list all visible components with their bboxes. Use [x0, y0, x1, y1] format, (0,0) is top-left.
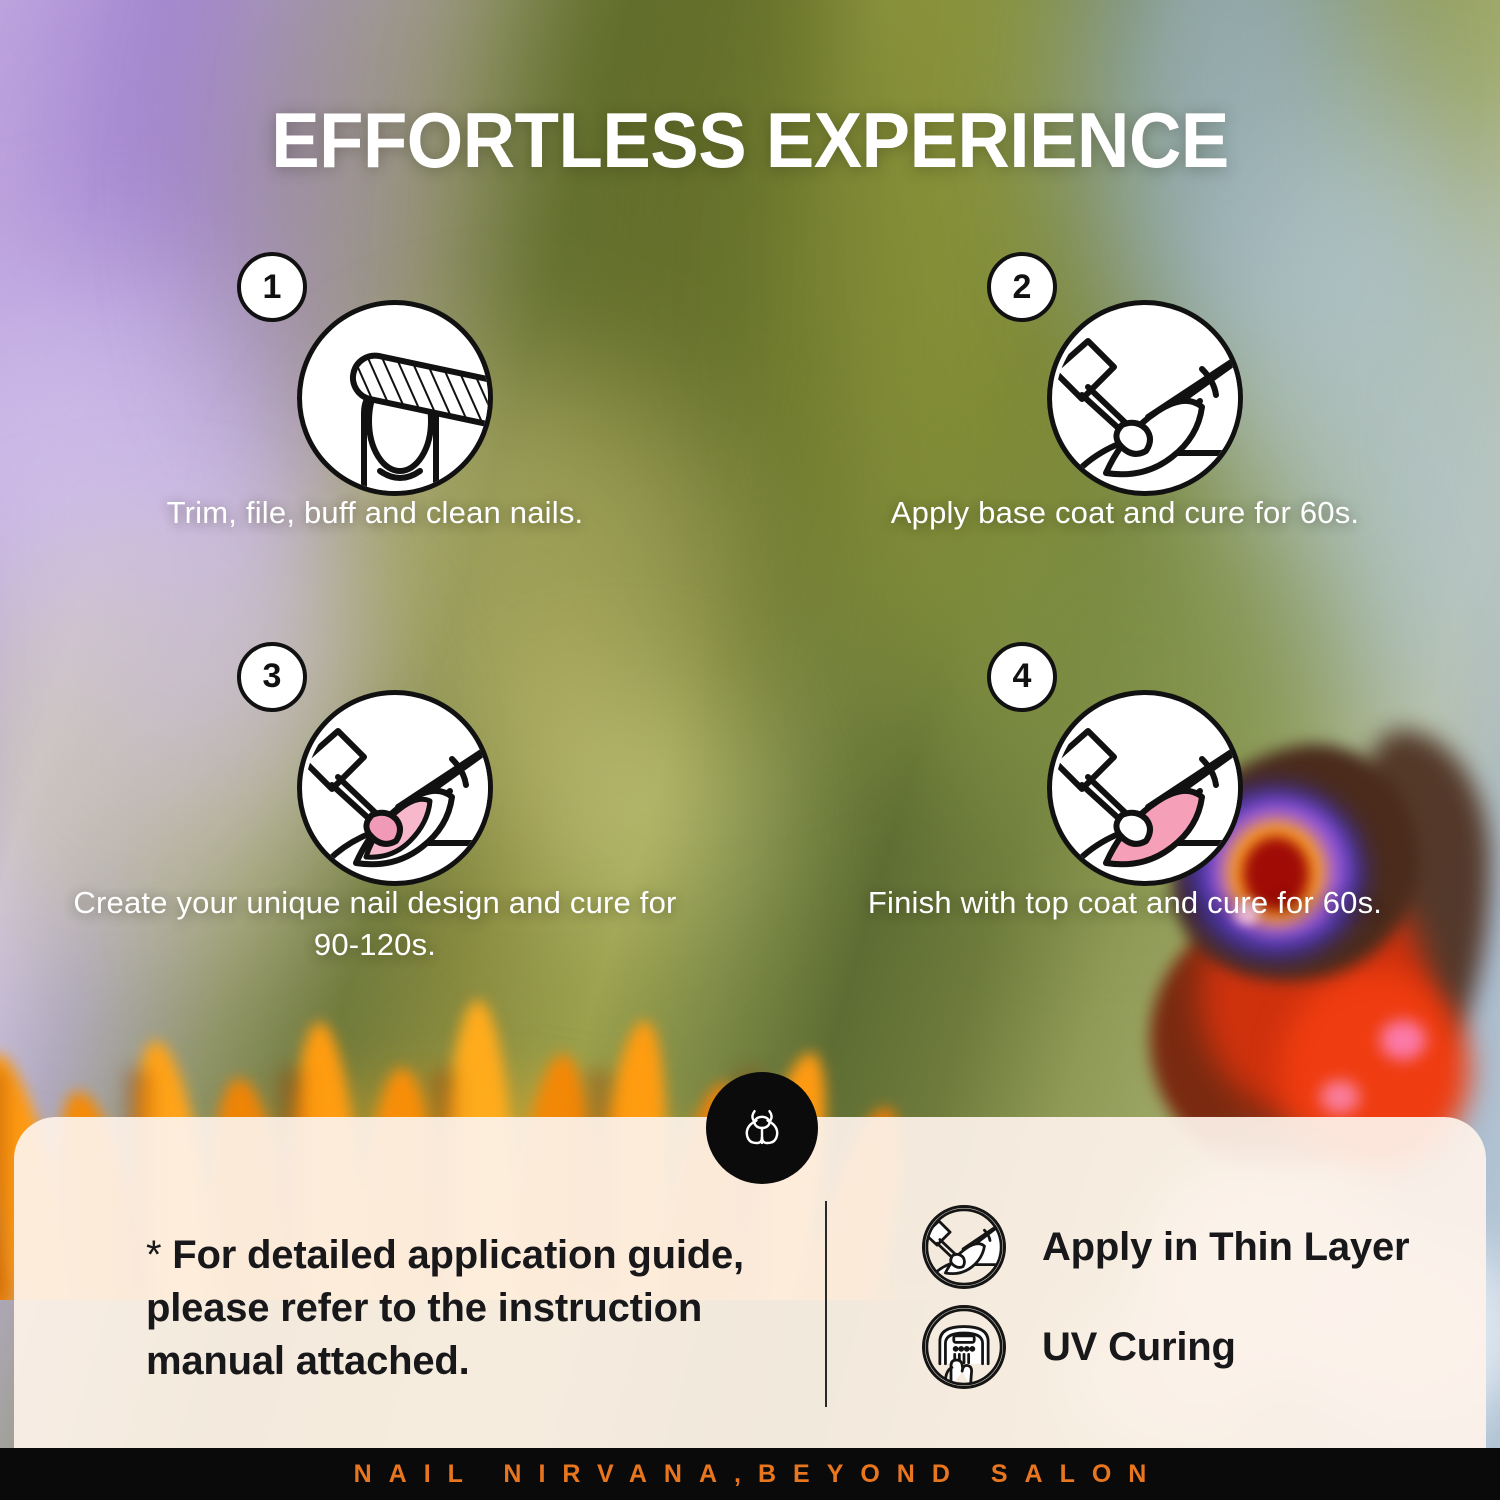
step-number-badge: 2	[987, 252, 1057, 322]
step-caption: Apply base coat and cure for 60s.	[750, 492, 1500, 534]
step-item-3: 3	[0, 660, 750, 966]
top-coat-brush-icon	[1047, 690, 1243, 886]
step-caption: Create your unique nail design and cure …	[0, 882, 750, 966]
product-infographic: EFFORTLESS EXPERIENCE 1	[0, 0, 1500, 1500]
nail-design-brush-icon	[297, 690, 493, 886]
feature-label: UV Curing	[1042, 1325, 1236, 1370]
bee-logo-icon	[706, 1072, 818, 1184]
step-caption: Finish with top coat and cure for 60s.	[750, 882, 1500, 924]
instruction-note-text: For detailed application guide, please r…	[146, 1233, 744, 1383]
brush-thin-layer-icon	[922, 1205, 1006, 1289]
step-number-badge: 1	[237, 252, 307, 322]
asterisk-marker: *	[146, 1233, 161, 1277]
step-caption: Trim, file, buff and clean nails.	[0, 492, 750, 534]
instruction-note: * For detailed application guide, please…	[146, 1229, 786, 1389]
step-number-badge: 4	[987, 642, 1057, 712]
nail-file-icon	[297, 300, 493, 496]
base-coat-brush-icon	[1047, 300, 1243, 496]
brand-tagline: NAIL NIRVANA,BEYOND SALON	[337, 1460, 1164, 1489]
step-number-badge: 3	[237, 642, 307, 712]
step-item-2: 2	[750, 270, 1500, 534]
feature-uv-curing: UV Curing	[922, 1305, 1236, 1389]
page-title: EFFORTLESS EXPERIENCE	[53, 101, 1448, 179]
brand-footer-bar: NAIL NIRVANA,BEYOND SALON	[0, 1448, 1500, 1500]
steps-grid: 1	[0, 270, 1500, 966]
uv-lamp-icon	[922, 1305, 1006, 1389]
step-item-4: 4	[750, 660, 1500, 966]
feature-apply-thin-layer: Apply in Thin Layer	[922, 1205, 1409, 1289]
step-item-1: 1	[0, 270, 750, 534]
feature-label: Apply in Thin Layer	[1042, 1225, 1409, 1270]
